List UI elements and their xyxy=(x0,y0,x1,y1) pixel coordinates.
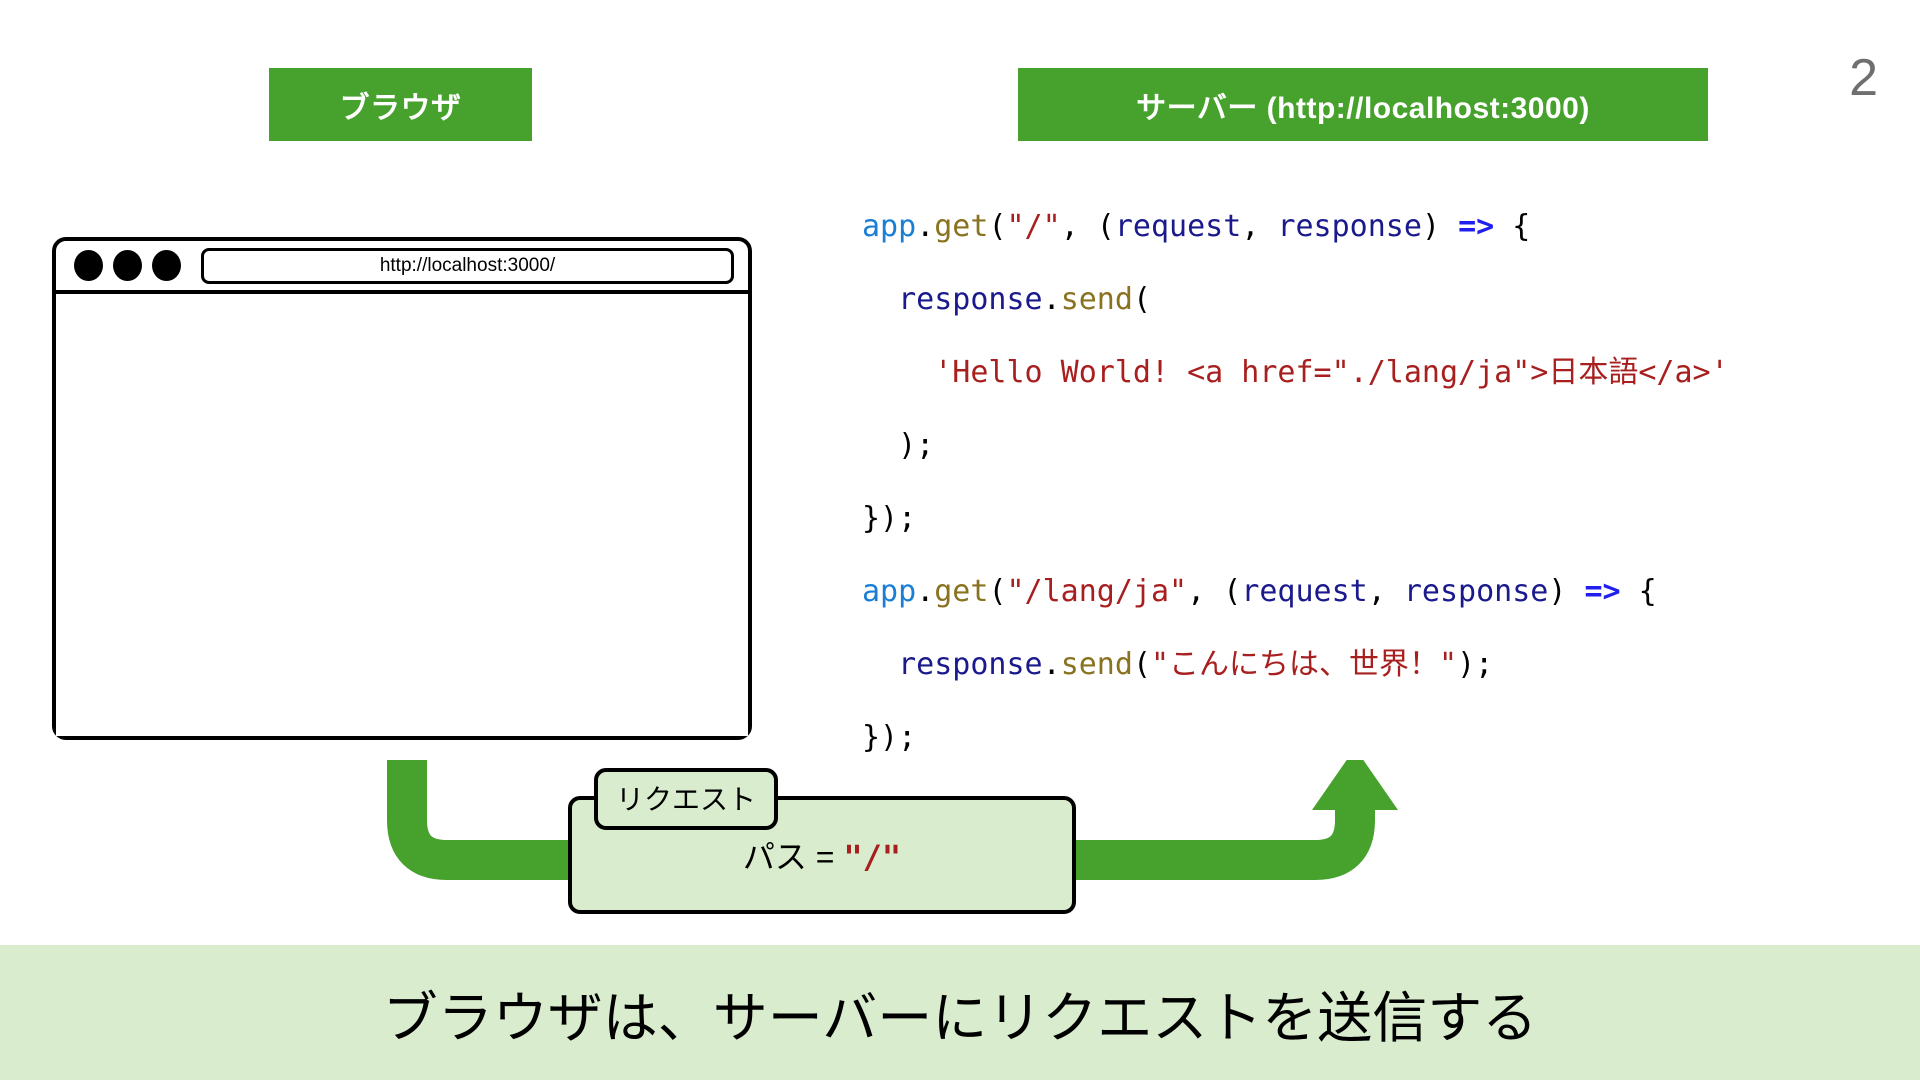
code-token-punct: ) xyxy=(1422,209,1458,244)
request-callout-tab: リクエスト xyxy=(594,768,778,830)
code-token-fn: send xyxy=(1061,282,1133,317)
code-token-punct: , xyxy=(1241,209,1277,244)
code-token-punct: ); xyxy=(1457,647,1493,682)
code-line: response.send("こんにちは、世界！"); xyxy=(862,628,1902,701)
code-token-punct: , ( xyxy=(1187,574,1241,609)
code-token-punct: ( xyxy=(1133,282,1151,317)
address-bar-url: http://localhost:3000/ xyxy=(380,255,555,277)
code-line: 'Hello World! <a href="./lang/ja">日本語</a… xyxy=(862,336,1902,409)
code-token-obj: app xyxy=(862,574,916,609)
server-section-header: サーバー (http://localhost:3000) xyxy=(1018,68,1708,141)
code-token-param: response xyxy=(1277,209,1422,244)
code-token-fn: get xyxy=(934,209,988,244)
code-token-punct: . xyxy=(916,574,934,609)
code-token-punct: , ( xyxy=(1061,209,1115,244)
code-line: response.send( xyxy=(862,263,1902,336)
browser-titlebar: http://localhost:3000/ xyxy=(56,241,748,294)
code-token-arrow: => xyxy=(1458,209,1494,244)
code-line: }); xyxy=(862,482,1902,555)
code-token-str: "/" xyxy=(1007,209,1061,244)
page-number: 2 xyxy=(1849,52,1878,104)
code-token-punct: { xyxy=(1494,209,1530,244)
request-path-value: "/" xyxy=(843,838,901,876)
code-token-param: request xyxy=(1115,209,1241,244)
code-line: app.get("/lang/ja", (request, response) … xyxy=(862,555,1902,628)
code-token-arrow: => xyxy=(1585,574,1621,609)
slide-caption-band: ブラウザは、サーバーにリクエストを送信する xyxy=(0,945,1920,1080)
code-token-punct: }); xyxy=(862,501,916,536)
request-callout-tab-label: リクエスト xyxy=(616,784,756,815)
code-token-punct: , xyxy=(1368,574,1404,609)
browser-viewport xyxy=(56,294,748,736)
server-code-block: app.get("/", (request, response) => { re… xyxy=(862,190,1902,774)
code-token-str: "こんにちは、世界！" xyxy=(1151,647,1457,682)
code-token-obj: app xyxy=(862,209,916,244)
code-token-param: request xyxy=(1241,574,1367,609)
browser-window-mockup: http://localhost:3000/ xyxy=(52,237,752,740)
window-minimize-dot-icon xyxy=(113,250,142,281)
browser-section-header-label: ブラウザ xyxy=(340,83,462,127)
code-token-punct: . xyxy=(1043,647,1061,682)
request-path-label: パス = xyxy=(743,839,843,875)
code-token-param: response xyxy=(898,282,1043,317)
code-token-fn: send xyxy=(1061,647,1133,682)
code-token-param: response xyxy=(898,647,1043,682)
server-section-header-label: サーバー (http://localhost:3000) xyxy=(1136,83,1590,127)
code-indent xyxy=(862,428,898,463)
code-token-fn: get xyxy=(934,574,988,609)
address-bar[interactable]: http://localhost:3000/ xyxy=(201,248,734,284)
code-token-punct: ( xyxy=(1133,647,1151,682)
request-path-text: パス = "/" xyxy=(743,832,901,878)
code-indent xyxy=(862,282,898,317)
code-token-punct: ); xyxy=(898,428,934,463)
code-token-punct: ( xyxy=(988,574,1006,609)
code-token-punct: ) xyxy=(1548,574,1584,609)
window-close-dot-icon xyxy=(74,250,103,281)
code-token-punct: { xyxy=(1621,574,1657,609)
browser-section-header: ブラウザ xyxy=(269,68,532,141)
code-token-punct: ( xyxy=(988,209,1006,244)
code-token-param: response xyxy=(1404,574,1549,609)
code-token-str: 'Hello World! <a href="./lang/ja">日本語</a… xyxy=(934,355,1728,390)
window-maximize-dot-icon xyxy=(152,250,181,281)
code-token-punct: . xyxy=(1043,282,1061,317)
code-indent xyxy=(862,355,934,390)
slide-caption-text: ブラウザは、サーバーにリクエストを送信する xyxy=(383,973,1537,1053)
code-token-str: "/lang/ja" xyxy=(1007,574,1188,609)
code-indent xyxy=(862,647,898,682)
code-line: app.get("/", (request, response) => { xyxy=(862,190,1902,263)
code-token-punct: . xyxy=(916,209,934,244)
code-token-punct: }); xyxy=(862,720,916,755)
code-line: ); xyxy=(862,409,1902,482)
